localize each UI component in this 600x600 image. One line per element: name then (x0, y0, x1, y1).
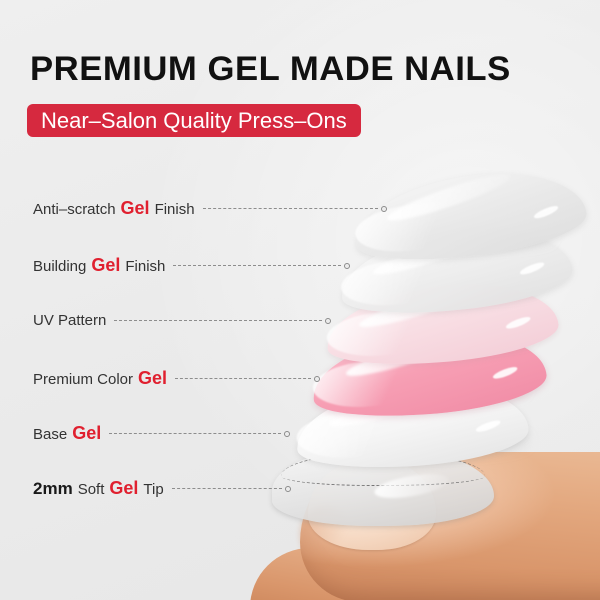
leader-endpoint-circle (314, 376, 320, 382)
callout-row-2mm-soft-gel-tip: 2mmSoftGelTip (33, 478, 282, 499)
callout-row-uv-pattern: UV Pattern (33, 312, 322, 329)
callout-label-premium-color-gel: Premium ColorGel (33, 368, 167, 389)
leader-line-2mm-soft-gel-tip (172, 488, 282, 490)
leader-line-building-gel-finish (173, 265, 341, 267)
label-part: Finish (125, 258, 165, 275)
label-part: Tip (143, 481, 163, 498)
callout-label-building-gel-finish: BuildingGelFinish (33, 255, 165, 276)
callout-row-anti-scratch-gel-finish: Anti–scratchGelFinish (33, 198, 378, 219)
label-part: Anti–scratch (33, 201, 116, 218)
callout-row-premium-color-gel: Premium ColorGel (33, 368, 311, 389)
leader-line-premium-color-gel (175, 378, 311, 380)
callout-label-anti-scratch-gel-finish: Anti–scratchGelFinish (33, 198, 195, 219)
label-part: Gel (72, 423, 101, 444)
callout-label-base-gel: BaseGel (33, 423, 101, 444)
callout-row-base-gel: BaseGel (33, 423, 281, 444)
label-part: Gel (109, 478, 138, 499)
label-part: Soft (78, 481, 105, 498)
label-part: Base (33, 426, 67, 443)
label-part: Finish (155, 201, 195, 218)
subtitle-badge: Near–Salon Quality Press–Ons (27, 104, 361, 137)
leader-endpoint-circle (285, 486, 291, 492)
label-part: Gel (121, 198, 150, 219)
label-part: Building (33, 258, 86, 275)
label-part: Gel (91, 255, 120, 276)
callout-label-uv-pattern: UV Pattern (33, 312, 106, 329)
leader-endpoint-circle (381, 206, 387, 212)
label-part: 2mm (33, 479, 73, 499)
leader-line-anti-scratch-gel-finish (203, 208, 378, 210)
infographic-canvas: PREMIUM GEL MADE NAILS Near–Salon Qualit… (0, 0, 600, 600)
callout-label-2mm-soft-gel-tip: 2mmSoftGelTip (33, 478, 164, 499)
leader-line-base-gel (109, 433, 281, 435)
label-part: Premium Color (33, 371, 133, 388)
page-title: PREMIUM GEL MADE NAILS (30, 50, 511, 89)
callout-row-building-gel-finish: BuildingGelFinish (33, 255, 341, 276)
leader-line-uv-pattern (114, 320, 322, 322)
label-part: Gel (138, 368, 167, 389)
label-part: UV Pattern (33, 312, 106, 329)
